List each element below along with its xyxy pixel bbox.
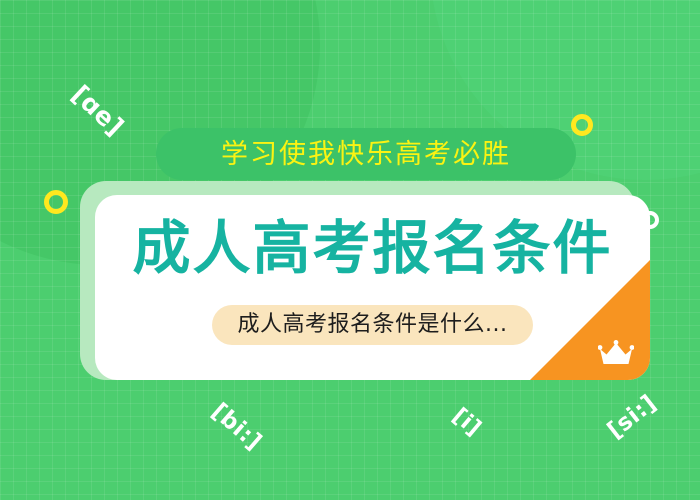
page-title: 成人高考报名条件: [95, 219, 650, 277]
crown-icon: [598, 340, 634, 366]
phonetic-mark-bi: [bi:]: [206, 398, 266, 455]
subtitle-text: 成人高考报名条件是什么...: [238, 314, 508, 336]
ring-yellow-top-right: [571, 114, 593, 136]
ring-white-right: [641, 211, 659, 229]
main-card: 成人高考报名条件 成人高考报名条件是什么...: [95, 195, 650, 380]
phonetic-mark-si: [si:]: [603, 390, 662, 444]
poster-canvas: [ɑe] [bi:] [i] [si:] 学习使我快乐高考必胜 成人高考报名条件…: [0, 0, 700, 500]
tagline-banner-text: 学习使我快乐高考必胜: [221, 141, 511, 168]
subtitle-pill: 成人高考报名条件是什么...: [212, 305, 534, 345]
phonetic-mark-i: [i]: [447, 404, 485, 442]
tagline-banner: 学习使我快乐高考必胜: [156, 128, 576, 180]
ring-yellow-left: [44, 190, 68, 214]
